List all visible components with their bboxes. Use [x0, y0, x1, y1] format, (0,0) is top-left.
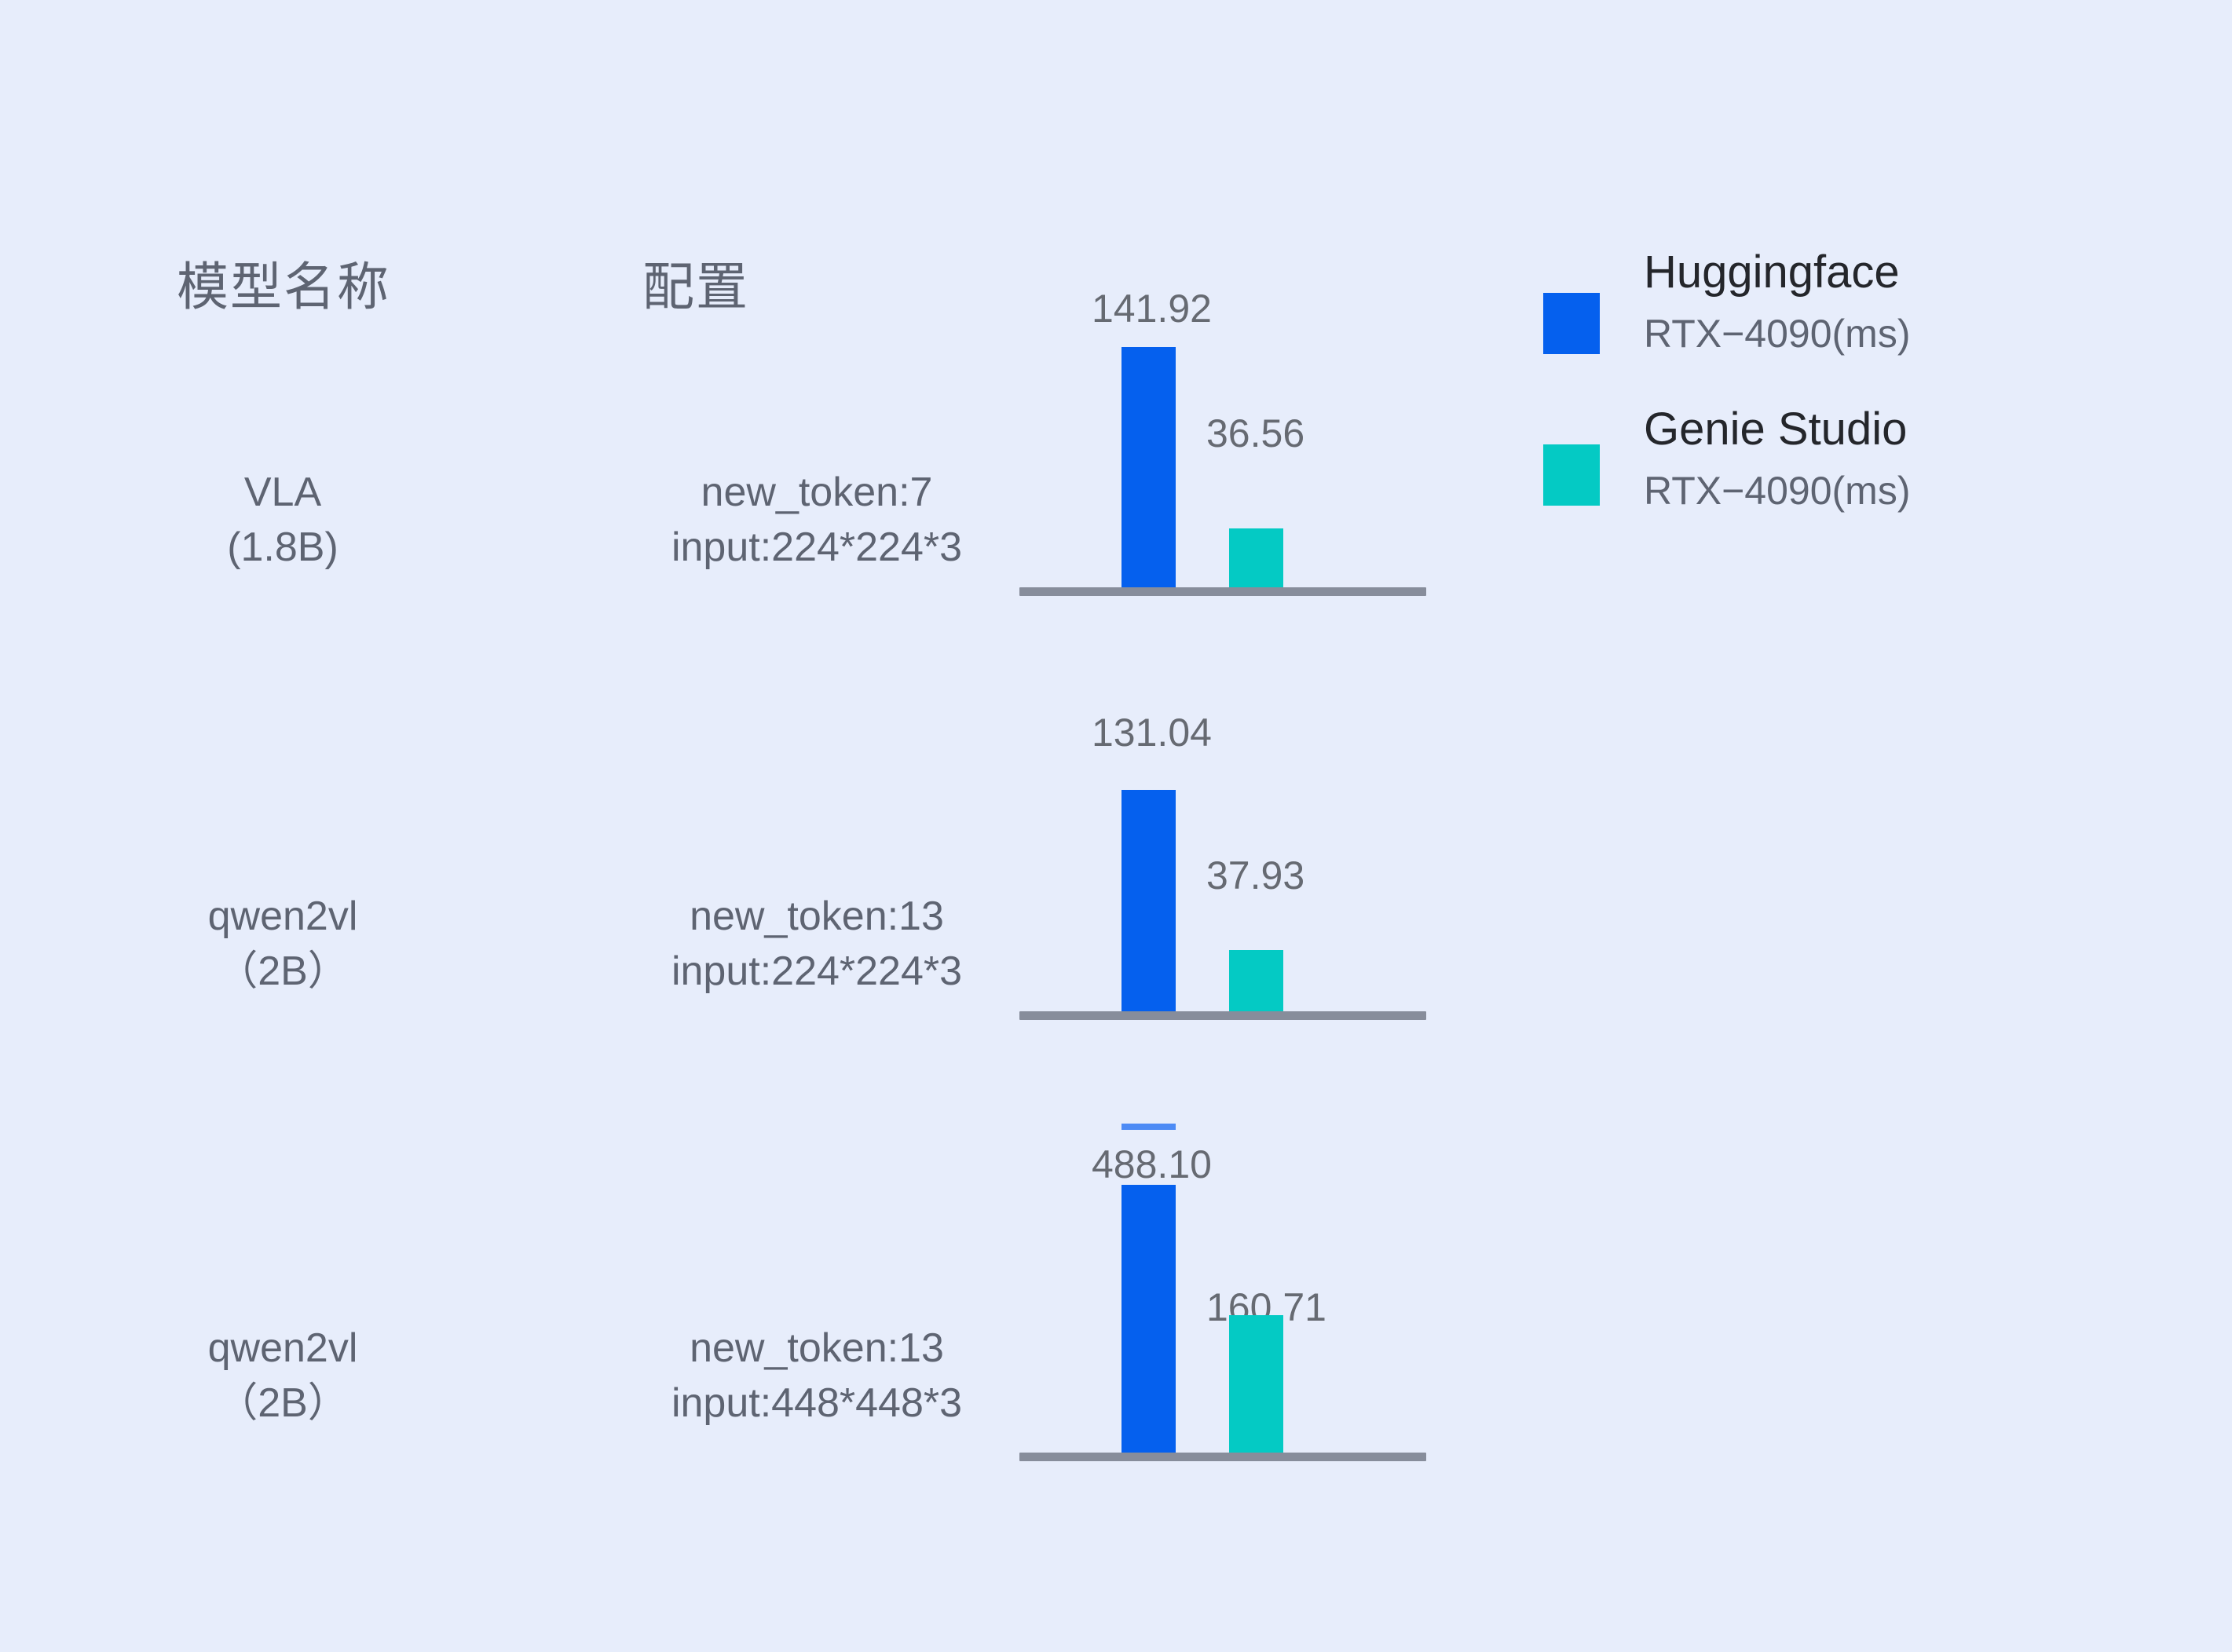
- bar-genie-studio[interactable]: [1229, 950, 1283, 1012]
- bar-value-huggingface: 131.04: [1092, 713, 1212, 752]
- bar-value-huggingface: 141.92: [1092, 289, 1212, 328]
- legend-item-genie-studio[interactable]: Genie Studio RTX−4090(ms): [1543, 407, 2140, 564]
- row-model-label: qwen2vl （2B）: [126, 1321, 440, 1431]
- bar-value-genie-studio: 37.93: [1206, 856, 1304, 895]
- bar-huggingface[interactable]: [1121, 347, 1176, 588]
- baseline-axis: [1019, 1453, 1426, 1461]
- legend-label-device: RTX−4090(ms): [1644, 471, 1910, 510]
- legend-item-huggingface[interactable]: Huggingface RTX−4090(ms): [1543, 250, 2140, 407]
- row-model-label: VLA (1.8B): [126, 465, 440, 575]
- row-model-size: (1.8B): [126, 520, 440, 575]
- bar-huggingface[interactable]: [1121, 790, 1176, 1012]
- row-plot-area: 131.04 37.93: [1019, 683, 1428, 1060]
- row-plot-area: 141.92 36.56: [1019, 259, 1428, 636]
- row-plot-area: 488.10 160.71: [1019, 1115, 1428, 1508]
- legend-swatch-square-icon: [1543, 444, 1600, 506]
- baseline-axis: [1019, 1011, 1426, 1020]
- row-model-size: （2B）: [126, 944, 440, 999]
- legend-label-device: RTX−4090(ms): [1644, 314, 1910, 353]
- chart-row: qwen2vl （2B） new_token:13 input:224*224*…: [0, 683, 2232, 1060]
- baseline-axis: [1019, 587, 1426, 596]
- row-model-size: （2B）: [126, 1376, 440, 1431]
- legend-label-name: Huggingface: [1644, 250, 1900, 295]
- legend-swatch-square-icon: [1543, 293, 1600, 354]
- bar-huggingface[interactable]: [1121, 1185, 1176, 1460]
- bar-value-huggingface: 488.10: [1092, 1145, 1212, 1184]
- row-model-label: qwen2vl （2B）: [126, 889, 440, 999]
- legend-label-name: Genie Studio: [1644, 407, 1907, 452]
- row-model-name: qwen2vl: [126, 1321, 440, 1376]
- bar-value-genie-studio: 36.56: [1206, 414, 1304, 453]
- bar-genie-studio[interactable]: [1229, 528, 1283, 588]
- chart-legend: Huggingface RTX−4090(ms) Genie Studio RT…: [1543, 250, 2140, 564]
- row-model-name: VLA: [126, 465, 440, 520]
- bar-overflow-indicator: [1121, 1124, 1176, 1130]
- bar-genie-studio[interactable]: [1229, 1315, 1283, 1453]
- column-headers: 模型名称 配置: [0, 126, 2232, 220]
- chart-row: qwen2vl （2B） new_token:13 input:448*448*…: [0, 1115, 2232, 1508]
- row-model-name: qwen2vl: [126, 889, 440, 944]
